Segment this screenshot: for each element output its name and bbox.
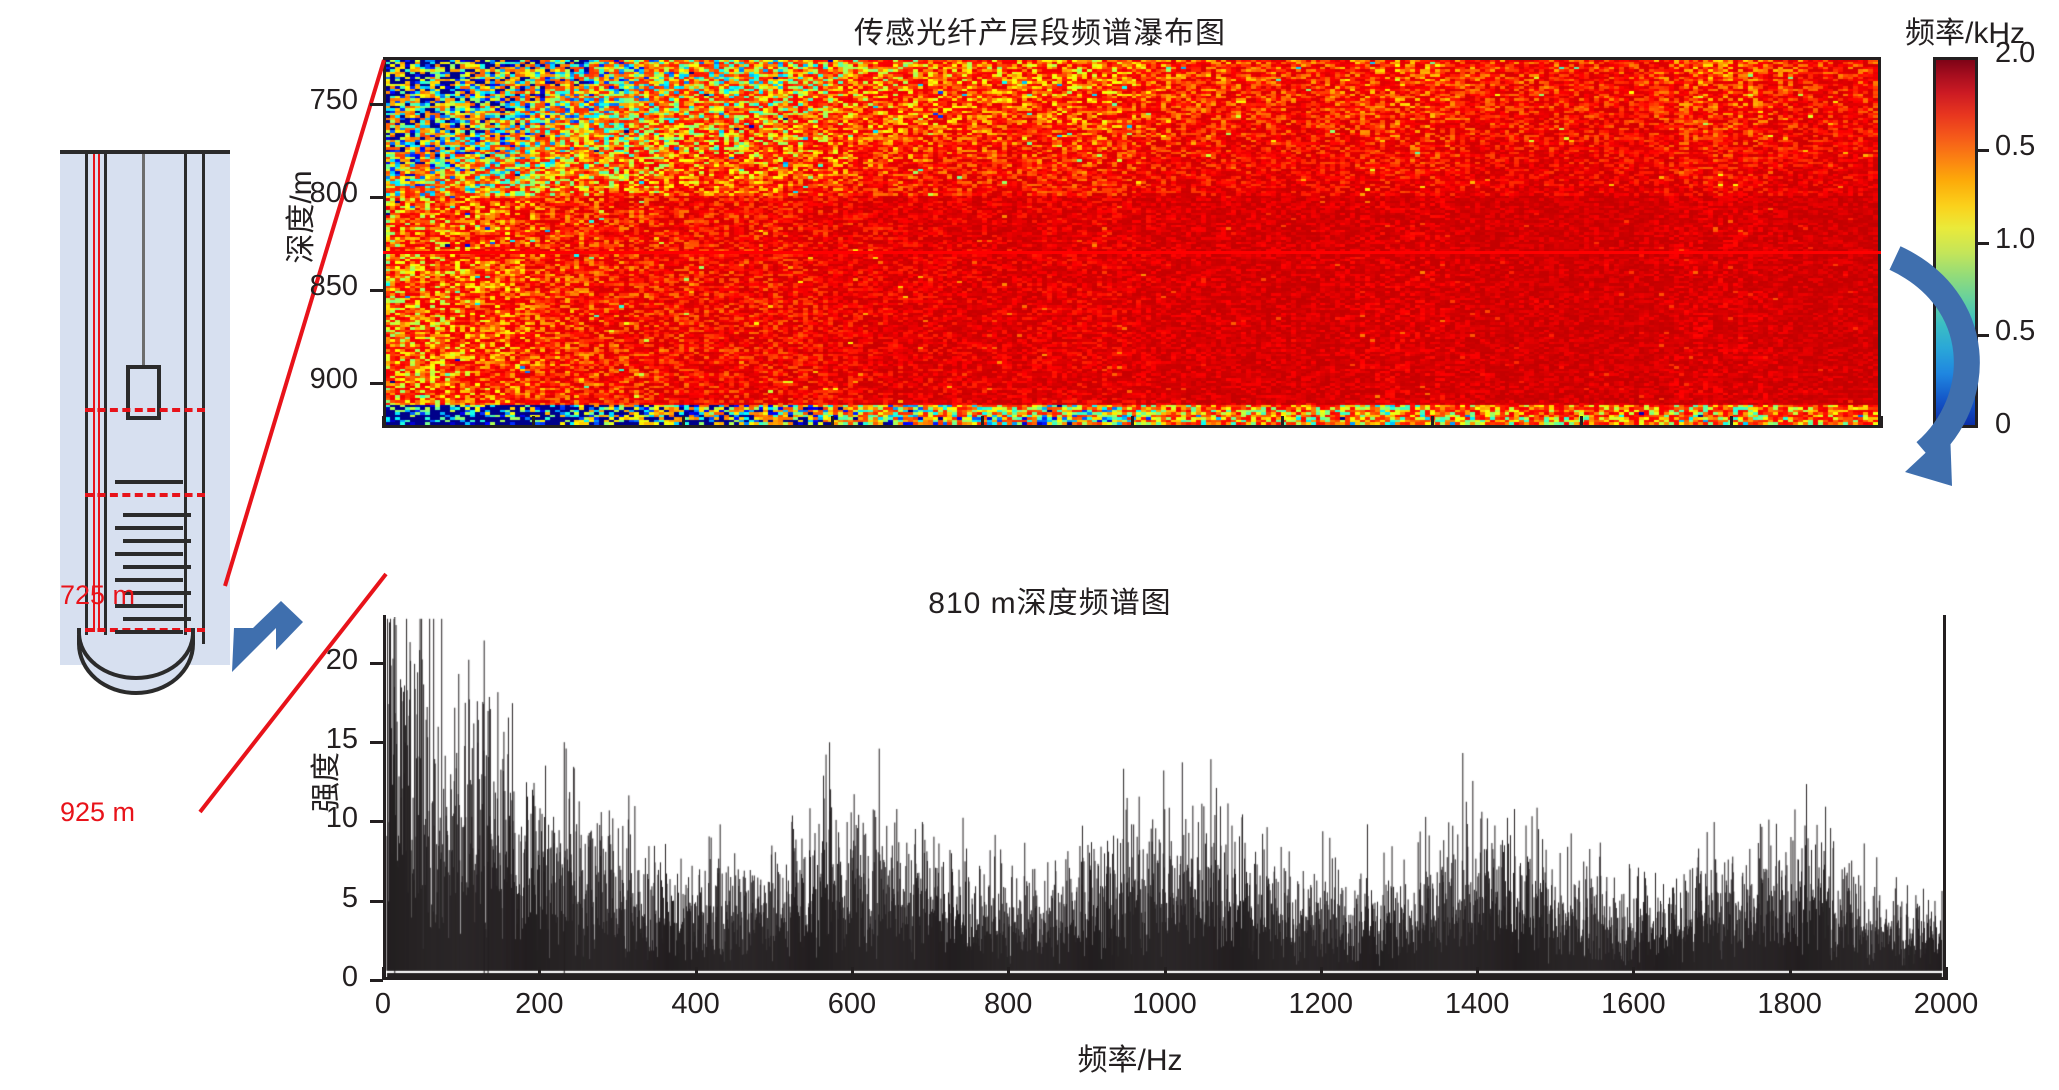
waterfall-x-tick xyxy=(1431,416,1434,428)
spectrum-y-tick xyxy=(370,662,383,665)
spectrum-y-tick-label: 15 xyxy=(288,723,358,756)
tubing-string xyxy=(142,154,145,366)
waterfall-y-tick-label: 750 xyxy=(278,84,358,117)
spectrum-x-tick xyxy=(382,967,385,980)
spectrum-y-tick-label: 20 xyxy=(288,644,358,677)
waterfall-x-tick xyxy=(532,416,535,428)
spectrum-y-tick xyxy=(370,820,383,823)
spectrum-x-tick-label: 1000 xyxy=(1105,988,1225,1021)
spectrum-x-tick xyxy=(538,967,541,980)
outer-casing-left xyxy=(85,154,88,644)
well-depth-label-925: 925 m xyxy=(0,797,135,828)
gauge-depth-dashed-line xyxy=(85,408,205,412)
waterfall-y-tick xyxy=(370,196,383,199)
spectrum-x-tick-label: 1400 xyxy=(1417,988,1537,1021)
colorbar-tick-label: 2.0 xyxy=(1995,37,2035,70)
packer-line xyxy=(115,480,183,484)
spectrum-x-tick-label: 800 xyxy=(948,988,1068,1021)
colorbar-tick xyxy=(1978,242,1989,245)
waterfall-y-axis-label: 深度/m xyxy=(276,157,320,277)
spectrum-x-tick-label: 2000 xyxy=(1886,988,2006,1021)
waterfall-heatmap-canvas xyxy=(386,60,1878,425)
perforation xyxy=(123,513,191,517)
spectrum-x-tick xyxy=(1945,967,1948,980)
outer-casing-right xyxy=(202,154,205,644)
perforation xyxy=(115,526,183,530)
waterfall-y-tick-label: 900 xyxy=(278,363,358,396)
inner-casing-right xyxy=(184,154,187,644)
waterfall-x-tick xyxy=(981,416,984,428)
spectrum-x-tick xyxy=(851,967,854,980)
spectrum-x-tick-label: 0 xyxy=(323,988,443,1021)
waterfall-y-tick xyxy=(370,382,383,385)
waterfall-y-tick xyxy=(370,103,383,106)
colorbar[interactable] xyxy=(1933,57,1978,428)
colorbar-tick-label: 1.0 xyxy=(1995,223,2035,256)
waterfall-x-tick xyxy=(1281,416,1284,428)
spectrum-y-tick-label: 5 xyxy=(288,882,358,915)
perforation xyxy=(123,617,191,621)
spectrum-x-tick xyxy=(1632,967,1635,980)
sensing-fiber-line-b xyxy=(98,154,100,632)
waterfall-x-tick xyxy=(831,416,834,428)
perforation xyxy=(123,539,191,543)
perforation xyxy=(115,552,183,556)
leader-line-top xyxy=(225,60,384,586)
waterfall-x-tick xyxy=(1131,416,1134,428)
well-depth-label-725: 725 m xyxy=(0,580,135,611)
spectrum-x-tick xyxy=(1789,967,1792,980)
spectrum-x-tick xyxy=(1007,967,1010,980)
waterfall-y-tick xyxy=(370,289,383,292)
waterfall-x-tick xyxy=(1880,416,1883,428)
spectrum-x-tick-label: 400 xyxy=(636,988,756,1021)
waterfall-x-tick xyxy=(1580,416,1583,428)
inner-casing-left xyxy=(104,154,107,644)
waterfall-chart-title: 传感光纤产层段频谱瀑布图 xyxy=(680,8,1400,52)
colorbar-tick xyxy=(1978,149,1989,152)
spectrum-y-tick-label: 10 xyxy=(288,802,358,835)
colorbar-tick xyxy=(1978,334,1989,337)
colorbar-tick-label: 0.5 xyxy=(1995,130,2035,163)
spectrum-x-tick xyxy=(695,967,698,980)
colorbar-tick-label: 0.5 xyxy=(1995,315,2035,348)
waterfall-x-tick xyxy=(382,416,385,428)
marker-dashed-line-725 xyxy=(85,493,205,497)
spectrum-x-tick-label: 600 xyxy=(792,988,912,1021)
perforation xyxy=(123,565,191,569)
spectrum-x-tick xyxy=(1476,967,1479,980)
spectrum-x-tick-label: 1200 xyxy=(1261,988,1381,1021)
spectrum-plot[interactable] xyxy=(383,615,1946,980)
waterfall-y-tick-label: 850 xyxy=(278,270,358,303)
spectrum-x-tick xyxy=(1164,967,1167,980)
sensing-fiber-line-a xyxy=(93,154,95,632)
spectrum-x-tick-label: 1800 xyxy=(1730,988,1850,1021)
spectrum-plot-canvas xyxy=(386,617,1943,977)
spectrum-x-tick xyxy=(1320,967,1323,980)
depth-marker-line-810 xyxy=(383,251,1881,254)
waterfall-x-tick xyxy=(682,416,685,428)
spectrum-x-tick-label: 1600 xyxy=(1573,988,1693,1021)
spectrum-y-tick xyxy=(370,741,383,744)
waterfall-heatmap[interactable] xyxy=(383,57,1881,428)
waterfall-x-tick xyxy=(1730,416,1733,428)
colorbar-tick-label: 0 xyxy=(1995,408,2011,441)
spectrum-x-tick-label: 200 xyxy=(479,988,599,1021)
spectrum-x-axis-label: 频率/Hz xyxy=(1000,1035,1260,1079)
spectrum-y-tick xyxy=(370,900,383,903)
waterfall-y-tick-label: 800 xyxy=(278,177,358,210)
